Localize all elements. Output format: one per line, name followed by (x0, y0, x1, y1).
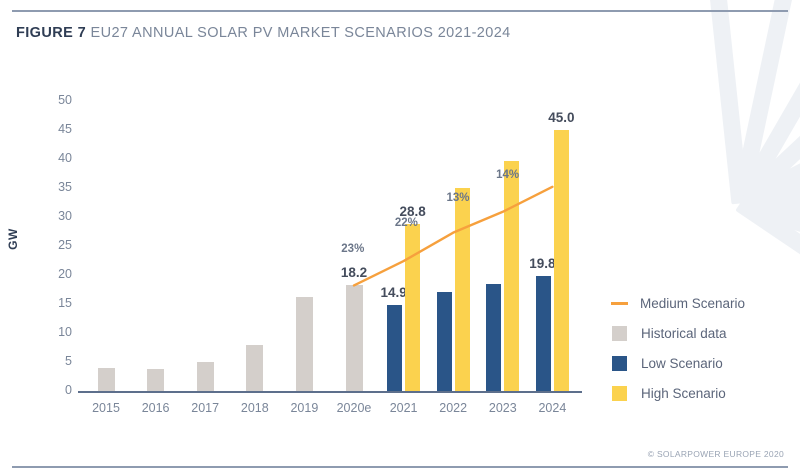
x-axis-tick-label: 2023 (475, 401, 531, 415)
x-axis-tick-label: 2017 (177, 401, 233, 415)
growth-rate-label: 22% (386, 217, 426, 229)
legend-color-swatch-icon (612, 356, 627, 371)
x-axis-tick-label: 2024 (524, 401, 580, 415)
x-axis-tick-label: 2021 (376, 401, 432, 415)
x-axis-tick-label: 2018 (227, 401, 283, 415)
figure-panel: FIGURE 7 EU27 ANNUAL SOLAR PV MARKET SCE… (0, 0, 800, 474)
x-axis-tick-label: 2022 (425, 401, 481, 415)
chart-legend: Medium ScenarioHistorical dataLow Scenar… (612, 288, 745, 408)
legend-item-label: High Scenario (641, 386, 726, 401)
legend-item-3: High Scenario (612, 378, 745, 408)
copyright-credit: © SOLARPOWER EUROPE 2020 (648, 449, 784, 459)
x-axis-tick-label: 2019 (276, 401, 332, 415)
legend-color-swatch-icon (612, 386, 627, 401)
growth-rate-label: 14% (488, 169, 528, 181)
x-axis-tick-label: 2015 (78, 401, 134, 415)
legend-color-swatch-icon (612, 326, 627, 341)
legend-item-label: Low Scenario (641, 356, 723, 371)
legend-item-label: Historical data (641, 326, 727, 341)
legend-item-2: Low Scenario (612, 348, 745, 378)
legend-item-0: Medium Scenario (612, 288, 745, 318)
legend-item-1: Historical data (612, 318, 745, 348)
growth-rate-label: 23% (333, 243, 373, 255)
legend-line-swatch-icon (611, 302, 628, 305)
growth-rate-label: 13% (438, 192, 478, 204)
x-axis-tick-label: 2020e (326, 401, 382, 415)
legend-item-label: Medium Scenario (640, 296, 745, 311)
x-axis-tick-label: 2016 (128, 401, 184, 415)
